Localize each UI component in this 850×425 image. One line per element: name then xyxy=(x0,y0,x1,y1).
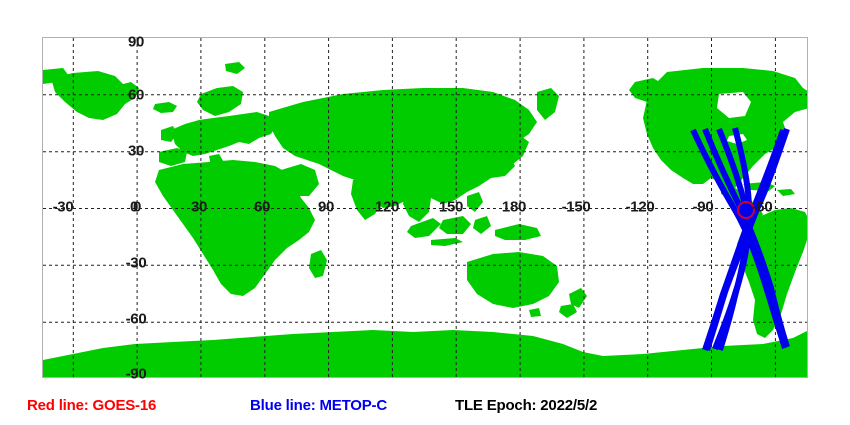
land-kamchatka xyxy=(537,88,559,120)
lon-tick-120: 120 xyxy=(375,200,399,215)
lon-tick-0: 0 xyxy=(130,200,138,215)
land-hispaniola xyxy=(777,189,795,196)
land-australia xyxy=(467,252,559,308)
legend-blue-line: Blue line: METOP-C xyxy=(250,393,387,419)
landmass-layer xyxy=(43,62,808,378)
lon-tick-minus150: -150 xyxy=(562,200,591,215)
lon-tick-minus60: -60 xyxy=(752,200,773,215)
lat-tick-minus30: -30 xyxy=(126,256,147,271)
land-borneo xyxy=(439,216,471,234)
land-sumatra xyxy=(407,218,441,238)
land-sulawesi xyxy=(473,216,491,234)
lon-tick-minus120: -120 xyxy=(626,200,655,215)
land-europe xyxy=(171,112,277,156)
lat-tick-90: 90 xyxy=(128,35,144,50)
land-java xyxy=(431,238,463,246)
land-new-guinea xyxy=(495,224,541,240)
land-madagascar xyxy=(309,250,327,278)
legend-red-line: Red line: GOES-16 xyxy=(27,393,156,419)
map-page: 90 60 30 0 -30 -60 -90 -30 0 30 60 90 12… xyxy=(0,0,850,425)
legend: Red line: GOES-16 Blue line: METOP-C TLE… xyxy=(0,393,850,419)
land-iberia xyxy=(159,148,187,166)
lat-tick-minus90: -90 xyxy=(126,367,147,382)
land-tasmania xyxy=(529,308,541,317)
land-new-zealand-south xyxy=(559,304,577,318)
land-indochina xyxy=(403,190,431,222)
lat-tick-30: 30 xyxy=(128,144,144,159)
legend-tle-epoch: TLE Epoch: 2022/5/2 xyxy=(455,393,597,419)
land-svalbard xyxy=(225,62,245,74)
lon-tick-minus90: -90 xyxy=(693,200,714,215)
land-antarctica xyxy=(43,330,808,378)
lon-tick-30: 30 xyxy=(191,200,207,215)
lon-tick-90: 90 xyxy=(318,200,334,215)
lon-tick-180: 180 xyxy=(502,200,526,215)
lon-tick-150: 150 xyxy=(439,200,463,215)
land-iceland xyxy=(153,102,177,113)
lon-tick-minus30: -30 xyxy=(53,200,74,215)
lat-tick-minus60: -60 xyxy=(126,312,147,327)
lon-tick-60: 60 xyxy=(254,200,270,215)
land-scandinavia xyxy=(197,86,243,116)
lat-tick-60: 60 xyxy=(128,88,144,103)
